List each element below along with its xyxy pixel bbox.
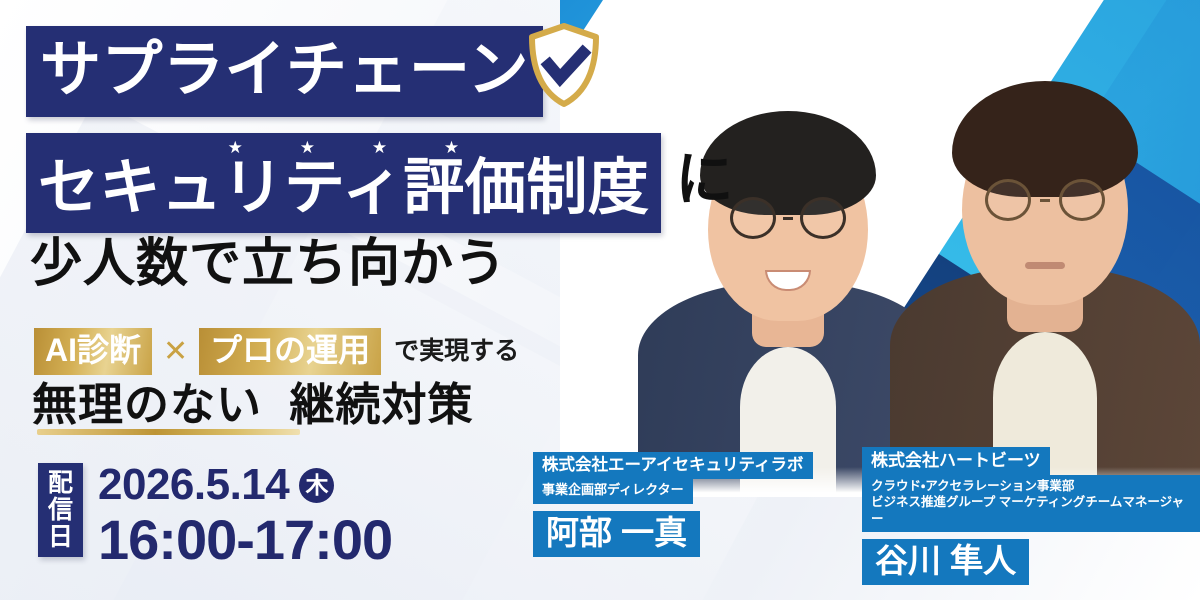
webinar-banner: サプライチェーン ★ ★ ★ ★ セキュリティ評価制度 に 少人数で立ち向かう …: [0, 0, 1200, 600]
speaker-company: 株式会社ハートビーツ: [862, 447, 1050, 475]
star-icon: ★: [300, 139, 316, 156]
label-char-2: 信: [38, 497, 83, 524]
subtitle-row: AI診断 ✕ プロの運用 で実現する: [34, 328, 519, 375]
star-rating-icons: ★ ★ ★ ★: [228, 139, 460, 156]
gold-underline: [37, 429, 300, 435]
speaker-company: 株式会社エーアイセキュリティラボ: [533, 452, 813, 479]
subtitle-tail: で実現する: [394, 339, 519, 364]
shield-check-icon: [527, 22, 601, 108]
day-of-week-badge: 木: [299, 468, 334, 503]
speaker-role-line-2: ビジネス推進グループ マーケティングチームマネージャー: [871, 494, 1191, 527]
label-char-3: 日: [38, 524, 83, 551]
headline-line-2-text: セキュリティ評価制度: [38, 153, 649, 221]
star-icon: ★: [372, 139, 388, 156]
speaker-role: クラウド・アクセラレーション事業部 ビジネス推進グループ マーケティングチームマ…: [862, 475, 1200, 532]
date-time-column: 2026.5.14 木 16:00-17:00: [98, 463, 392, 568]
headline-line-3: 少人数で立ち向かう: [30, 238, 507, 290]
cross-icon: ✕: [163, 337, 188, 367]
speaker-photo-tanigawa: [890, 27, 1200, 497]
subtitle-line-2-b: 継続対策: [290, 379, 474, 430]
star-icon: ★: [444, 139, 460, 156]
speaker-role-line-1: クラウド・アクセラレーション事業部: [871, 478, 1191, 494]
time-text: 16:00-17:00: [98, 512, 392, 568]
speakers-photo-panel: [560, 0, 1200, 497]
date-line: 2026.5.14 木: [98, 463, 392, 507]
speaker-plate-abe: 株式会社エーアイセキュリティラボ 事業企画部ディレクター 阿部 一真: [533, 452, 813, 557]
date-text: 2026.5.14: [98, 463, 289, 507]
speaker-role: 事業企画部ディレクター: [533, 479, 693, 504]
subtitle-chip-ai: AI診断: [34, 328, 152, 375]
headline-line-1-row: サプライチェーン: [26, 26, 543, 117]
subtitle-chip-pro: プロの運用: [199, 328, 381, 375]
star-icon: ★: [228, 139, 244, 156]
subtitle-line-2-a: 無理のない: [32, 379, 262, 430]
label-char-1: 配: [38, 470, 83, 497]
speaker-plate-tanigawa: 株式会社ハートビーツ クラウド・アクセラレーション事業部 ビジネス推進グループ …: [862, 447, 1200, 585]
headline-line-2-suffix: に: [675, 151, 733, 215]
speaker-name: 阿部 一真: [533, 511, 700, 557]
broadcast-date-block: 配 信 日 2026.5.14 木 16:00-17:00: [38, 463, 392, 568]
subtitle-line-2: 無理のない 継続対策: [32, 382, 474, 427]
speaker-name: 谷川 隼人: [862, 539, 1029, 585]
broadcast-date-label: 配 信 日: [38, 463, 83, 557]
headline-line-2: ★ ★ ★ ★ セキュリティ評価制度: [26, 133, 661, 233]
headline-line-2-row: ★ ★ ★ ★ セキュリティ評価制度 に: [26, 133, 733, 233]
headline-line-1: サプライチェーン: [26, 26, 543, 117]
